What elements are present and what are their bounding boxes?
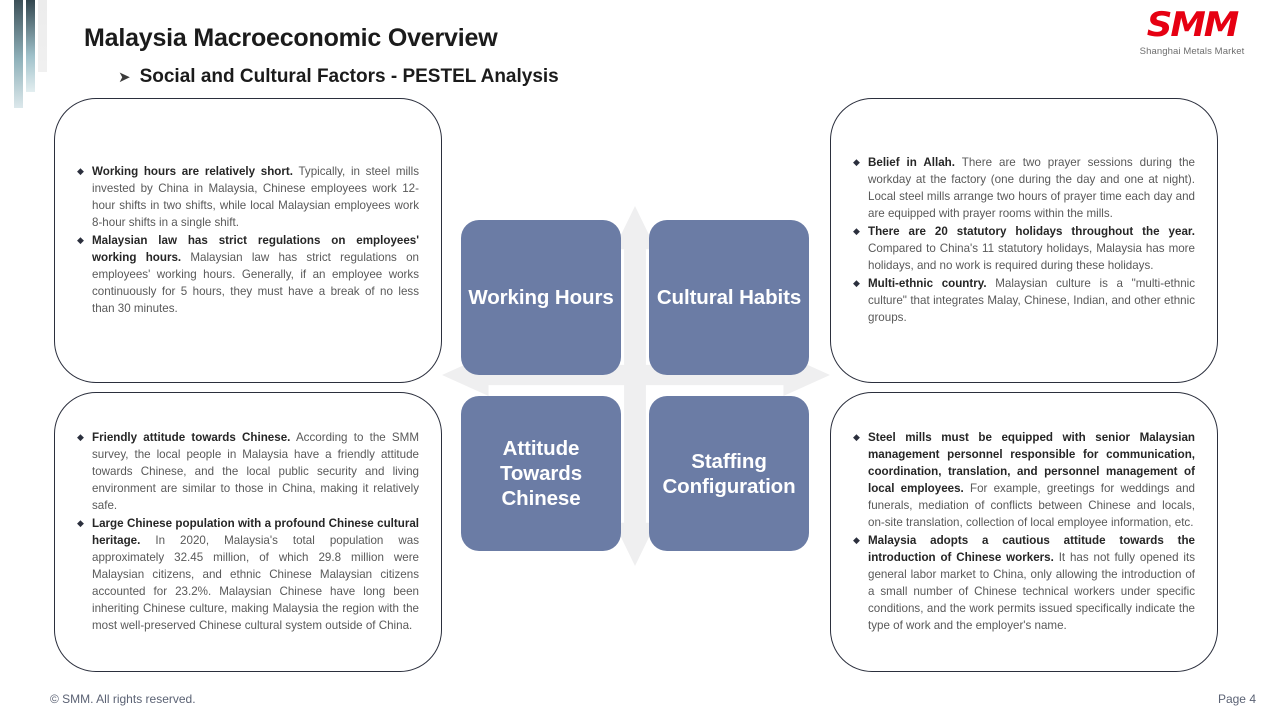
quadrant-staffing-configuration[interactable]: Staffing Configuration xyxy=(649,396,809,551)
quadrant-cultural-habits[interactable]: Cultural Habits xyxy=(649,220,809,375)
decorative-bar-1 xyxy=(14,0,23,108)
callout-attitude-towards-chinese: ◆ Friendly attitude towards Chinese. Acc… xyxy=(54,392,442,672)
list-item: ◆ Working hours are relatively short. Ty… xyxy=(77,163,419,231)
smm-logo: SMM Shanghai Metals Market xyxy=(1126,8,1258,57)
bullet-list: ◆ Friendly attitude towards Chinese. Acc… xyxy=(77,429,419,635)
quadrant-working-hours[interactable]: Working Hours xyxy=(461,220,621,375)
diamond-bullet-icon: ◆ xyxy=(77,429,92,514)
list-item: ◆ There are 20 statutory holidays throug… xyxy=(853,223,1195,274)
diamond-bullet-icon: ◆ xyxy=(853,532,868,634)
arrowhead-right-icon: ➤ xyxy=(118,68,131,86)
bullet-text: In 2020, Malaysia's total population was… xyxy=(92,534,419,632)
bullet-list: ◆ Working hours are relatively short. Ty… xyxy=(77,163,419,318)
list-item: ◆ Steel mills must be equipped with seni… xyxy=(853,429,1195,531)
logo-tagline: Shanghai Metals Market xyxy=(1126,46,1258,57)
bullet-text: Compared to China's 11 statutory holiday… xyxy=(868,242,1195,272)
bullet-list: ◆ Steel mills must be equipped with seni… xyxy=(853,429,1195,635)
diamond-bullet-icon: ◆ xyxy=(77,232,92,317)
list-item: ◆ Multi-ethnic country. Malaysian cultur… xyxy=(853,275,1195,326)
page-subtitle-label: Social and Cultural Factors - PESTEL Ana… xyxy=(140,66,559,88)
list-item: ◆ Friendly attitude towards Chinese. Acc… xyxy=(77,429,419,514)
callout-cultural-habits: ◆ Belief in Allah. There are two prayer … xyxy=(830,98,1218,383)
decorative-bar-3 xyxy=(38,0,47,72)
bullet-lead: Working hours are relatively short. xyxy=(92,165,293,178)
bullet-list: ◆ Belief in Allah. There are two prayer … xyxy=(853,154,1195,327)
diamond-bullet-icon: ◆ xyxy=(77,163,92,231)
page-title: Malaysia Macroeconomic Overview xyxy=(84,24,497,53)
footer-copyright: © SMM. All rights reserved. xyxy=(50,692,196,706)
callout-working-hours: ◆ Working hours are relatively short. Ty… xyxy=(54,98,442,383)
diamond-bullet-icon: ◆ xyxy=(853,275,868,326)
list-item: ◆ Malaysian law has strict regulations o… xyxy=(77,232,419,317)
diamond-bullet-icon: ◆ xyxy=(853,223,868,274)
bullet-lead: Multi-ethnic country. xyxy=(868,277,987,290)
decorative-bar-2 xyxy=(26,0,35,92)
list-item: ◆ Malaysia adopts a cautious attitude to… xyxy=(853,532,1195,634)
list-item: ◆ Large Chinese population with a profou… xyxy=(77,515,419,634)
diamond-bullet-icon: ◆ xyxy=(853,154,868,222)
quadrant-attitude-towards-chinese[interactable]: Attitude Towards Chinese xyxy=(461,396,621,551)
callout-staffing-configuration: ◆ Steel mills must be equipped with seni… xyxy=(830,392,1218,672)
logo-wordmark: SMM xyxy=(1123,8,1262,42)
bullet-lead: Friendly attitude towards Chinese. xyxy=(92,431,290,444)
footer-page-number: Page 4 xyxy=(1218,692,1256,706)
page-subtitle: ➤ Social and Cultural Factors - PESTEL A… xyxy=(118,66,559,88)
diamond-bullet-icon: ◆ xyxy=(77,515,92,634)
bullet-lead: Belief in Allah. xyxy=(868,156,955,169)
diamond-bullet-icon: ◆ xyxy=(853,429,868,531)
decorative-corner-bars xyxy=(0,0,60,110)
bullet-lead: There are 20 statutory holidays througho… xyxy=(868,225,1195,238)
pestel-quadrant-matrix: Working Hours Cultural Habits Attitude T… xyxy=(448,198,824,574)
list-item: ◆ Belief in Allah. There are two prayer … xyxy=(853,154,1195,222)
